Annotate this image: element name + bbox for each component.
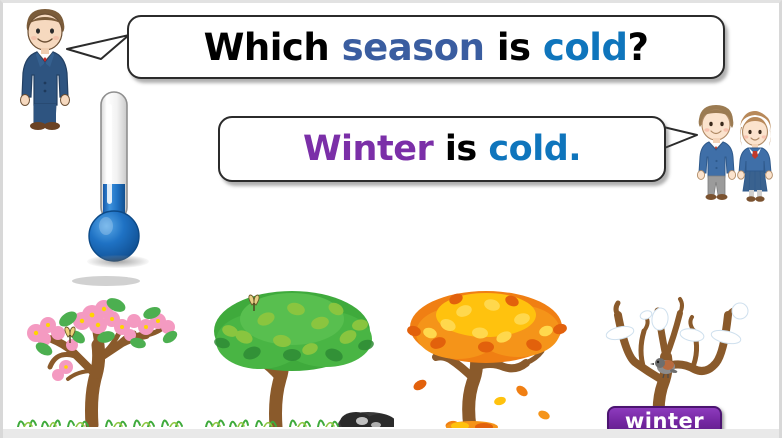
- answer-word-winter: Winter: [303, 129, 445, 169]
- thermometer-cold: [86, 88, 146, 268]
- answer-speech-bubble[interactable]: Winter is cold.: [218, 116, 666, 182]
- thermometer-shadow: [87, 255, 149, 268]
- answer-word-is: is: [445, 129, 489, 169]
- lesson-slide: Which season is cold? Winter is cold.: [0, 0, 782, 438]
- question-speech-bubble[interactable]: Which season is cold?: [127, 15, 725, 79]
- question-mark: ?: [627, 26, 648, 69]
- answer-text: Winter is cold.: [303, 129, 581, 169]
- question-text: Which season is cold?: [204, 26, 649, 69]
- question-word-is: is: [497, 26, 543, 69]
- question-word-season: season: [342, 26, 497, 69]
- student-characters: [689, 99, 781, 203]
- scene-summer[interactable]: [200, 275, 394, 432]
- scene-autumn[interactable]: [394, 275, 588, 432]
- teacher-character: [7, 5, 83, 131]
- bottom-strip: [3, 429, 779, 438]
- question-word-which: Which: [204, 26, 342, 69]
- answer-word-cold: cold: [488, 129, 568, 169]
- scene-spring[interactable]: [6, 275, 200, 432]
- answer-period: .: [568, 129, 581, 169]
- question-bubble-tail: [61, 33, 131, 61]
- question-word-cold: cold: [543, 26, 628, 69]
